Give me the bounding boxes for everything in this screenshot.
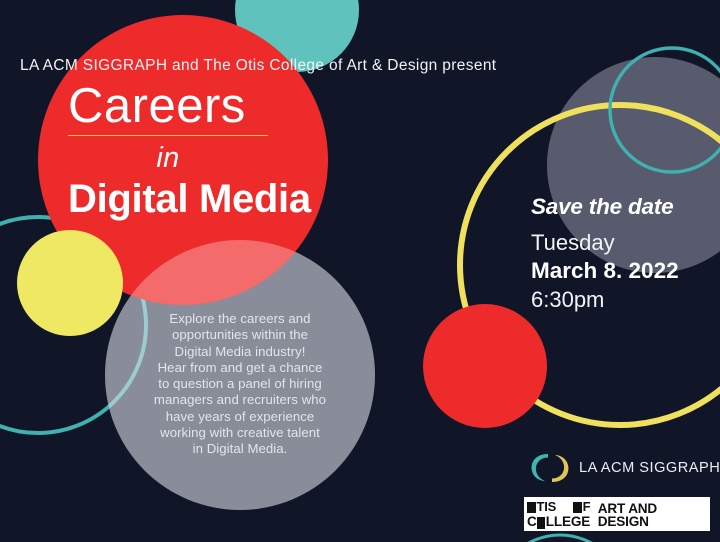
title-underline-rule bbox=[68, 135, 268, 137]
title-line-digital-media: Digital Media bbox=[68, 177, 408, 222]
otis-logo-row-2: C LLEGE ART AND DESIGN bbox=[527, 514, 707, 529]
title-line-in: in bbox=[68, 142, 268, 175]
otis-text-llege: LLEGE bbox=[546, 515, 590, 529]
otis-text-art-and-design: ART AND DESIGN bbox=[598, 502, 707, 529]
body-copy-line: Hear from and get a chance bbox=[136, 360, 344, 376]
event-date: March 8. 2022 bbox=[531, 258, 720, 284]
presenter-line: LA ACM SIGGRAPH and The Otis College of … bbox=[20, 57, 496, 75]
event-day: Tuesday bbox=[531, 230, 720, 256]
body-copy-line: Explore the careers and bbox=[136, 311, 344, 327]
body-copy: Explore the careers and opportunities wi… bbox=[136, 311, 344, 458]
otis-college-logo: TIS F C LLEGE ART AND DESIGN bbox=[524, 497, 710, 531]
otis-text-c: C bbox=[527, 515, 537, 529]
otis-text-tis: TIS bbox=[537, 500, 557, 513]
event-poster: LA ACM SIGGRAPH and The Otis College of … bbox=[0, 0, 720, 542]
red-circle-bottom-right bbox=[423, 304, 547, 428]
body-copy-line: opportunities within the bbox=[136, 327, 344, 343]
body-copy-line: to question a panel of hiring bbox=[136, 376, 344, 392]
event-time: 6:30pm bbox=[531, 287, 720, 313]
page-title: Careers in Digital Media bbox=[68, 82, 408, 222]
title-line-careers: Careers bbox=[68, 82, 408, 132]
save-the-date-heading: Save the date bbox=[531, 194, 720, 220]
body-copy-line: have years of experience bbox=[136, 409, 344, 425]
siggraph-wordmark: LA ACM SIGGRAPH bbox=[579, 460, 720, 476]
body-copy-line: working with creative talent bbox=[136, 425, 344, 441]
yellow-circle-bottom-left bbox=[17, 230, 123, 336]
body-copy-line: Digital Media industry! bbox=[136, 344, 344, 360]
body-copy-line: managers and recruiters who bbox=[136, 392, 344, 408]
otis-o-square-icon bbox=[537, 517, 546, 529]
otis-o-square-icon bbox=[573, 502, 582, 513]
otis-o-square-icon bbox=[527, 502, 536, 513]
siggraph-swirl-icon bbox=[528, 449, 572, 487]
body-copy-line: in Digital Media. bbox=[136, 441, 344, 457]
save-the-date-block: Save the date Tuesday March 8. 2022 6:30… bbox=[531, 194, 720, 313]
otis-text-f: F bbox=[583, 500, 591, 513]
siggraph-logo: LA ACM SIGGRAPH bbox=[528, 449, 720, 487]
